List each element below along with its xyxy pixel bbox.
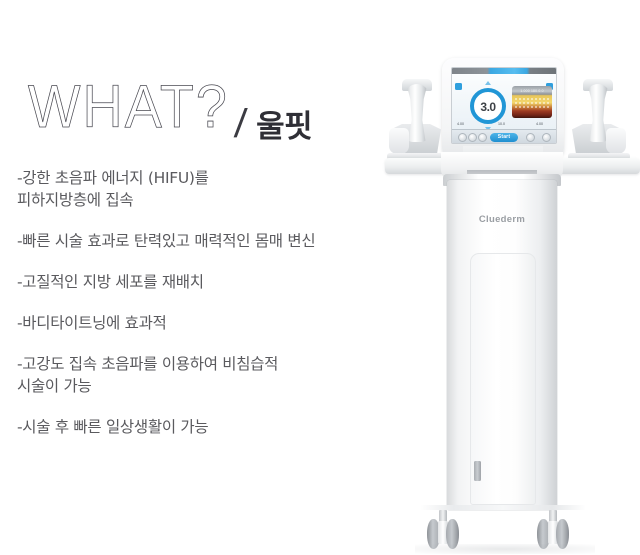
toolbar-key-4-icon bbox=[526, 133, 535, 142]
list-item: -시술 후 빠른 일상생활이 가능 bbox=[17, 416, 447, 438]
device-brand-label: Cluederm bbox=[447, 214, 557, 225]
toolbar-key-1-icon bbox=[458, 133, 467, 142]
device-monitor: 3.0 1.000 180.0.0 4.00 10.0 4.00 Start bbox=[442, 58, 564, 160]
dial-value: 3.0 bbox=[474, 100, 502, 114]
toolbar-key-5-icon bbox=[542, 133, 551, 142]
screen-toolbar: Start bbox=[452, 129, 556, 144]
toolbar-key-3-icon bbox=[478, 133, 487, 142]
list-item: -강한 초음파 에너지 (HIFU)를 피하지방층에 집속 bbox=[17, 167, 447, 211]
headline-what: WHAT? bbox=[28, 77, 229, 137]
screen-main-area: 3.0 1.000 180.0.0 4.00 10.0 4.00 bbox=[452, 74, 556, 129]
cart-column: Cluederm bbox=[447, 180, 557, 510]
readout-left: 4.00 bbox=[457, 122, 464, 126]
toolbar-key-2-icon bbox=[468, 133, 477, 142]
list-item: -고강도 집속 초음파를 이용하여 비침습적 시술이 가능 bbox=[17, 353, 447, 397]
device-illustration: 3.0 1.000 180.0.0 4.00 10.0 4.00 Start bbox=[385, 58, 640, 538]
brand-name-korean: 울핏 bbox=[256, 101, 312, 146]
device-touchscreen: 3.0 1.000 180.0.0 4.00 10.0 4.00 Start bbox=[451, 67, 557, 144]
list-item: -바디타이트닝에 효과적 bbox=[17, 312, 447, 334]
door-handle bbox=[474, 461, 481, 481]
handpiece-cup-right bbox=[606, 128, 626, 154]
energy-dial: 3.0 bbox=[470, 88, 506, 124]
ultrasound-label: 1.000 180.0.0 bbox=[512, 89, 552, 94]
chevron-up-icon bbox=[485, 81, 491, 85]
start-button: Start bbox=[490, 133, 518, 142]
readout-mid: 10.0 bbox=[498, 122, 505, 126]
headline-separator: / bbox=[233, 102, 249, 147]
floor-shadow bbox=[415, 544, 595, 554]
readout-right: 4.00 bbox=[536, 122, 543, 126]
handpiece-cup-left bbox=[389, 128, 409, 154]
list-item: -빠른 시술 효과로 탄력있고 매력적인 몸매 변신 bbox=[17, 230, 447, 252]
list-item: -고질적인 지방 세포를 재배치 bbox=[17, 271, 447, 293]
slide-canvas: WHAT? / 울핏 -강한 초음파 에너지 (HIFU)를 피하지방층에 집속… bbox=[0, 0, 640, 555]
screen-left-badge-icon bbox=[455, 83, 462, 90]
handpiece-right bbox=[570, 84, 626, 162]
feature-list: -강한 초음파 에너지 (HIFU)를 피하지방층에 집속 -빠른 시술 효과로… bbox=[17, 167, 447, 438]
cart-door bbox=[470, 253, 536, 505]
handpiece-left bbox=[389, 84, 445, 162]
page-title: WHAT? / 울핏 bbox=[28, 55, 312, 145]
fat-cell-pattern bbox=[514, 97, 550, 110]
ultrasound-preview: 1.000 180.0.0 bbox=[512, 86, 552, 118]
